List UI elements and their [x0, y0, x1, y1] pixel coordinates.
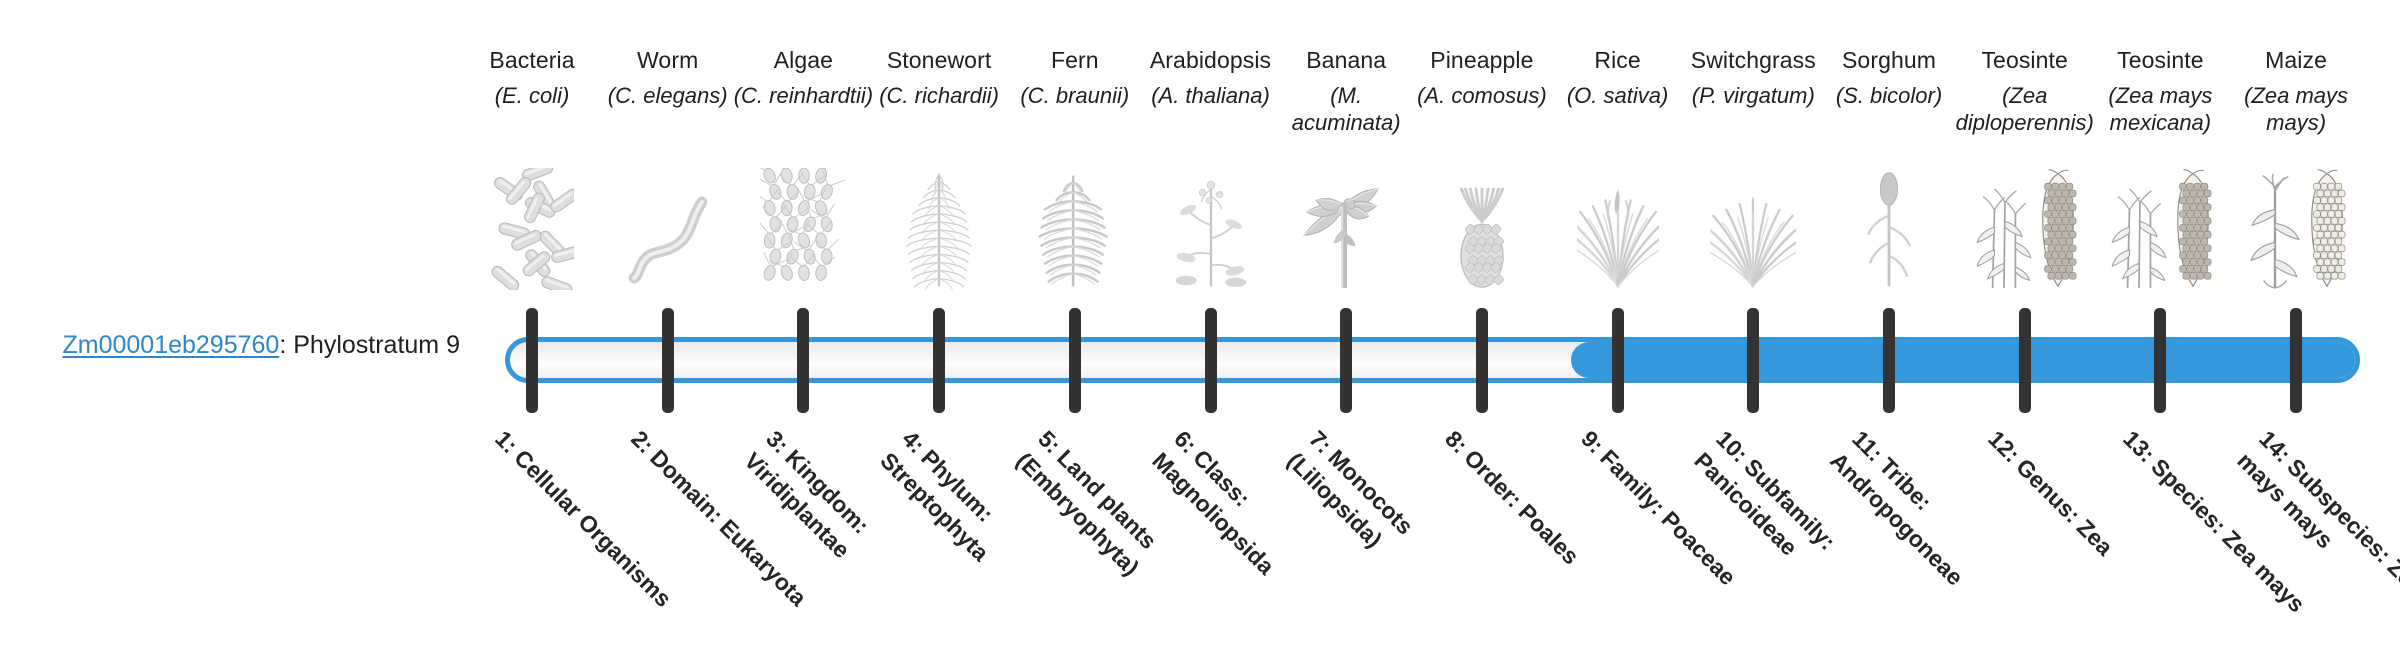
species-common-name: Banana: [1276, 46, 1416, 74]
species-scientific-name: (C. elegans): [598, 82, 738, 109]
species-common-name: Bacteria: [462, 46, 602, 74]
species-common-name: Teosinte: [1955, 46, 2095, 74]
species-column-arabidopsis-6: Arabidopsis(A. thaliana): [1141, 46, 1281, 109]
species-column-banana-7: Banana(M. acuminata): [1276, 46, 1416, 136]
phylostratum-rank: Cellular: [509, 444, 587, 522]
species-common-name: Maize: [2226, 46, 2366, 74]
phylostratum-taxon: Poaceae: [1656, 506, 1740, 590]
gene-id-link[interactable]: Zm00001eb295760: [62, 331, 279, 359]
species-column-switchgrass-10: Switchgrass(P. virgatum): [1683, 46, 1823, 109]
phylostratum-taxon: Zea: [2071, 514, 2117, 560]
species-column-pineapple-8: Pineapple(A. comosus): [1412, 46, 1552, 109]
species-scientific-name: (O. sativa): [1548, 82, 1688, 109]
species-column-stonewort-4: Stonewort(C. richardii): [869, 46, 1009, 109]
species-column-maize-14: Maize(Zea mays mays): [2226, 46, 2366, 136]
species-column-teosinte-13: Teosinte(Zea mays mexicana): [2090, 46, 2230, 136]
phylostratum-index: 13:: [2119, 425, 2161, 467]
species-column-teosinte-12: Teosinte(Zea diploperennis): [1955, 46, 2095, 136]
species-common-name: Stonewort: [869, 46, 1009, 74]
worm-illustration: [598, 168, 738, 290]
teosinte-illustration: [1955, 168, 2095, 290]
species-common-name: Fern: [1005, 46, 1145, 74]
species-scientific-name: (C. reinhardtii): [733, 82, 873, 109]
species-scientific-name: (Zea mays mexicana): [2090, 82, 2230, 136]
phylostratum-timeline-chart: Zm00001eb295760: Phylostratum 9 Bacteria…: [0, 0, 2400, 580]
species-column-worm-2: Worm(C. elegans): [598, 46, 738, 109]
species-common-name: Switchgrass: [1683, 46, 1823, 74]
species-column-fern-5: Fern(C. braunii): [1005, 46, 1145, 109]
phylostratum-rank: Species:: [2147, 453, 2232, 538]
arabidopsis-illustration: [1141, 168, 1281, 290]
bacteria-illustration: [462, 168, 602, 290]
fern-illustration: [1005, 168, 1145, 290]
species-column-algae-3: Algae(C. reinhardtii): [733, 46, 873, 109]
species-column-rice-9: Rice(O. sativa): [1548, 46, 1688, 109]
phylostratum-bar-fill: [1571, 342, 2360, 378]
species-column-sorghum-11: Sorghum(S. bicolor): [1819, 46, 1959, 109]
species-common-name: Pineapple: [1412, 46, 1552, 74]
maize-illustration: [2226, 168, 2366, 290]
species-scientific-name: (P. virgatum): [1683, 82, 1823, 109]
switchgrass-illustration: [1683, 168, 1823, 290]
algae-illustration: [733, 168, 873, 290]
stonewort-illustration: [869, 168, 1009, 290]
phylostratum-bar-track[interactable]: [505, 337, 2360, 383]
species-scientific-name: (A. comosus): [1412, 82, 1552, 109]
species-common-name: Worm: [598, 46, 738, 74]
species-scientific-name: (A. thaliana): [1141, 82, 1281, 109]
phylostratum-taxon: Organisms: [573, 509, 676, 612]
pineapple-illustration: [1412, 168, 1552, 290]
phylostratum-index: 12:: [1983, 425, 2025, 467]
gene-label-separator: :: [279, 331, 293, 359]
phylostratum-value: Phylostratum 9: [293, 331, 460, 359]
species-scientific-name: (E. coli): [462, 82, 602, 109]
phylostratum-rank: Domain:: [645, 444, 728, 527]
phylostratum-taxon: Zea mays: [2218, 525, 2311, 618]
teosinte-illustration: [2090, 168, 2230, 290]
phylostratum-taxon: Poales: [1513, 499, 1584, 570]
species-scientific-name: (Zea mays mays): [2226, 82, 2366, 136]
species-scientific-name: (C. braunii): [1005, 82, 1145, 109]
species-scientific-name: (C. richardii): [869, 82, 1009, 109]
phylostratum-rank: Genus:: [2011, 453, 2085, 527]
species-common-name: Algae: [733, 46, 873, 74]
species-common-name: Arabidopsis: [1141, 46, 1281, 74]
sorghum-illustration: [1819, 168, 1959, 290]
species-scientific-name: (S. bicolor): [1819, 82, 1959, 109]
species-scientific-name: (Zea diploperennis): [1955, 82, 2095, 136]
species-common-name: Sorghum: [1819, 46, 1959, 74]
gene-phylostratum-label: Zm00001eb295760: Phylostratum 9: [40, 330, 460, 360]
phylostratum-rank: Order:: [1459, 444, 1527, 512]
species-column-bacteria-1: Bacteria(E. coli): [462, 46, 602, 109]
banana-illustration: [1276, 168, 1416, 290]
species-common-name: Rice: [1548, 46, 1688, 74]
phylostratum-rank: Family:: [1595, 444, 1670, 519]
species-scientific-name: (M. acuminata): [1276, 82, 1416, 136]
rice-illustration: [1548, 168, 1688, 290]
species-common-name: Teosinte: [2090, 46, 2230, 74]
phylostratum-label-14: 14: Subspecies: Zea mays mays: [2230, 424, 2400, 645]
